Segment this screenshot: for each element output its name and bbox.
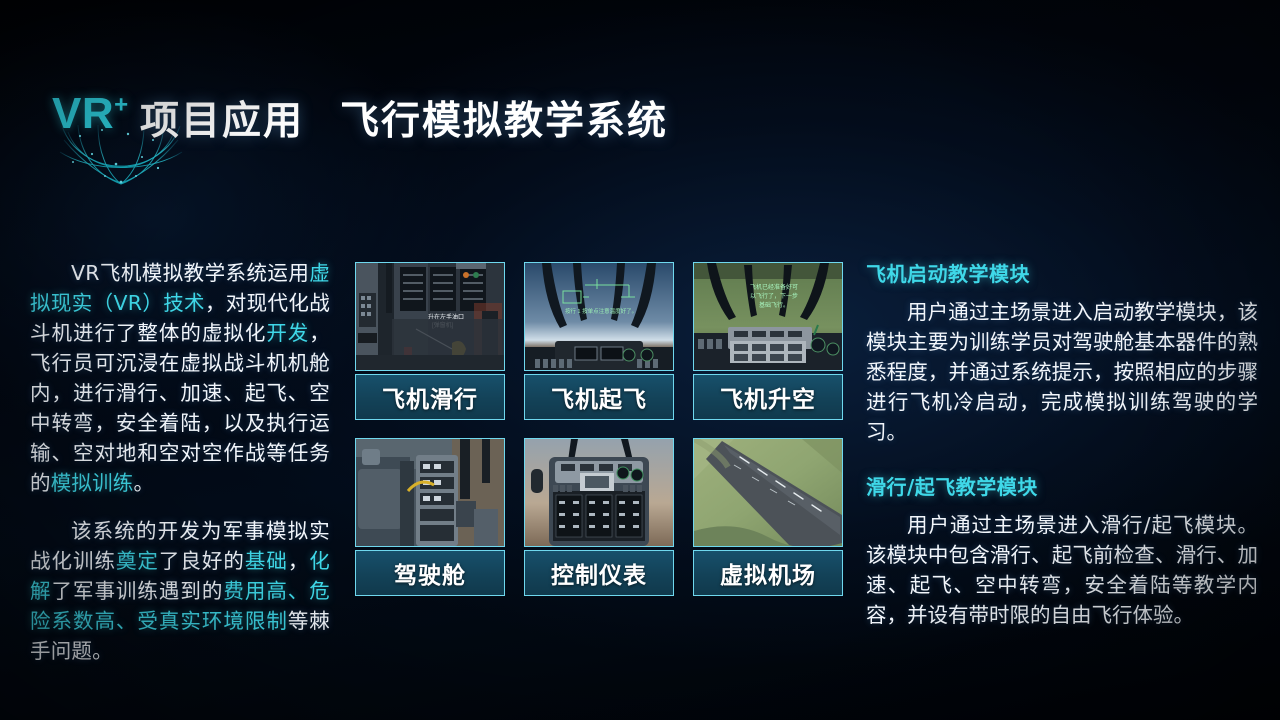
section-body-startup: 用户通过主场景进入启动教学模块，该模块主要为训练学员对驾驶舱基本器件的熟悉程度，… (866, 297, 1258, 447)
cockpit-hud-sky-thumbnail[interactable]: 按行 1 按单点注意温度好了。 (524, 262, 674, 371)
left-description-column: VR飞机模拟教学系统运用虚拟现实（VR）技术，对现代化战斗机进行了整体的虚拟化开… (30, 258, 330, 684)
card-airborne[interactable]: 飞机已经准备好可 以飞行了，下一步 基础飞行。 (693, 262, 843, 420)
control-instruments-panel-thumbnail[interactable] (524, 438, 674, 547)
page-title: 项目应用 (140, 90, 304, 146)
svg-text:以飞行了，下一步: 以飞行了，下一步 (750, 292, 798, 300)
cockpit-hud-green-terrain-thumbnail[interactable]: 飞机已经准备好可 以飞行了，下一步 基础飞行。 (693, 262, 843, 371)
highlight-text: 开发 (266, 321, 309, 345)
card-label-airborne[interactable]: 飞机升空 (693, 374, 843, 420)
body-text: VR飞机模拟教学系统运用 (71, 261, 309, 285)
highlight-text: 模拟训练 (51, 471, 134, 495)
card-label-takeoff[interactable]: 飞机起飞 (524, 374, 674, 420)
cockpit-seat-side-thumbnail[interactable] (355, 438, 505, 547)
slide-header: VR+ (0, 78, 1280, 188)
card-label-virtual-airport[interactable]: 虚拟机场 (693, 550, 843, 596)
svg-text:基础飞行。: 基础飞行。 (759, 301, 789, 309)
highlight-text: 基础 (245, 549, 288, 573)
virtual-airport-runway-thumbnail[interactable] (693, 438, 843, 547)
section-heading-startup: 飞机启动教学模块 (866, 258, 1258, 287)
logo-superscript-plus: + (114, 91, 129, 118)
body-text: 。 (134, 471, 155, 495)
card-label-instruments[interactable]: 控制仪表 (524, 550, 674, 596)
svg-text:按行 1 按单点注意温度好了。: 按行 1 按单点注意温度好了。 (565, 307, 637, 315)
svg-text:飞机已经准备好可: 飞机已经准备好可 (750, 283, 798, 291)
card-taxi[interactable]: 升在左手油口 [弹窗机] 飞机滑行 (355, 262, 505, 420)
card-row-bottom: 驾驶舱 (355, 438, 845, 596)
body-text: ，飞行员可沉浸在虚拟战斗机机舱内，进行滑行、加速、起飞、空中转弯，安全着陆，以及… (30, 321, 330, 495)
card-instruments[interactable]: 控制仪表 (524, 438, 674, 596)
slide-root: VR+ (0, 0, 1280, 720)
card-label-taxi[interactable]: 飞机滑行 (355, 374, 505, 420)
body-text: ， (288, 549, 309, 573)
card-label-cockpit[interactable]: 驾驶舱 (355, 550, 505, 596)
card-takeoff[interactable]: 按行 1 按单点注意温度好了。 (524, 262, 674, 420)
card-cockpit[interactable]: 驾驶舱 (355, 438, 505, 596)
section-startup-module: 飞机启动教学模块 用户通过主场景进入启动教学模块，该模块主要为训练学员对驾驶舱基… (866, 258, 1258, 447)
left-paragraph-1: VR飞机模拟教学系统运用虚拟现实（VR）技术，对现代化战斗机进行了整体的虚拟化开… (30, 258, 330, 498)
right-description-column: 飞机启动教学模块 用户通过主场景进入启动教学模块，该模块主要为训练学员对驾驶舱基… (866, 258, 1258, 654)
body-text: 了良好的 (159, 549, 245, 573)
screenshot-card-grid: 升在左手油口 [弹窗机] 飞机滑行 (355, 262, 845, 596)
card-virtual-airport[interactable]: 虚拟机场 (693, 438, 843, 596)
section-heading-taxi-takeoff: 滑行/起飞教学模块 (866, 471, 1258, 500)
highlight-text: 奠定 (116, 549, 159, 573)
card-row-top: 升在左手油口 [弹窗机] 飞机滑行 (355, 262, 845, 420)
page-subtitle: 飞行模拟教学系统 (340, 90, 668, 146)
body-text: 了军事训练遇到的 (51, 579, 223, 603)
cockpit-instrument-panel-thumbnail[interactable]: 升在左手油口 [弹窗机] (355, 262, 505, 371)
left-paragraph-2: 该系统的开发为军事模拟实战化训练奠定了良好的基础，化解了军事训练遇到的费用高、危… (30, 516, 330, 666)
section-body-taxi-takeoff: 用户通过主场景进入滑行/起飞模块。该模块中包含滑行、起飞前检查、滑行、加速、起飞… (866, 510, 1258, 630)
section-taxi-takeoff-module: 滑行/起飞教学模块 用户通过主场景进入滑行/起飞模块。该模块中包含滑行、起飞前检… (866, 471, 1258, 630)
